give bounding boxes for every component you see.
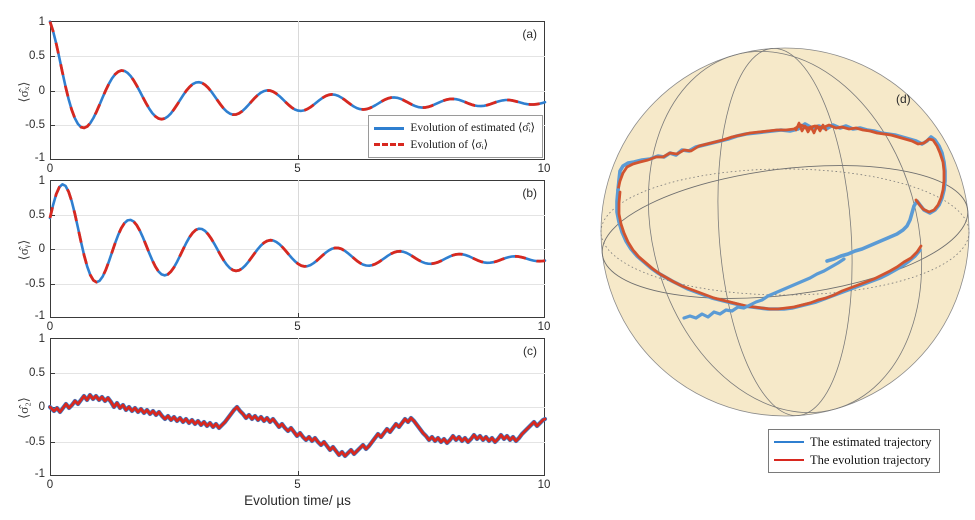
sphere-body	[601, 48, 969, 416]
ytick-label: 0	[39, 85, 45, 97]
legend-item-evolution: Evolution of ⟨σᵢ⟩	[374, 137, 535, 153]
legend-swatch-red	[774, 459, 804, 461]
legend-label-estimated-trajectory: The estimated trajectory	[810, 433, 931, 451]
bloch-sphere-svg	[600, 40, 975, 425]
legend-timeseries: Evolution of estimated ⟨σ̂ᵢ⟩ Evolution o…	[368, 115, 543, 158]
panel-sigma-y: 1 0.5 0 -0.5 -1 0 5 10 (b)	[50, 180, 545, 318]
xtick-label: 0	[47, 321, 53, 333]
ytick-label: 1	[39, 16, 45, 28]
panel-bloch-sphere: (d)	[600, 40, 975, 425]
legend-label-evolution-trajectory: The evolution trajectory	[810, 451, 931, 469]
legend-swatch-red-dashed	[374, 143, 404, 146]
trace-evolution-sigma-y	[50, 184, 545, 282]
xtick-label: 10	[538, 479, 551, 491]
legend-label-evolution: Evolution of ⟨σᵢ⟩	[410, 137, 488, 153]
ytick-label: 0	[39, 243, 45, 255]
legend-label-estimated: Evolution of estimated ⟨σ̂ᵢ⟩	[410, 120, 535, 136]
ylabel-sigma-y: ⟨σ̂ᵧ⟩	[16, 220, 32, 280]
ytick-label: -1	[35, 468, 45, 480]
ytick-label: -1	[35, 310, 45, 322]
ytick-label: 0.5	[29, 50, 45, 62]
xtick-label: 5	[294, 163, 300, 175]
ytick-label: 0.5	[29, 367, 45, 379]
panel-label-d: (d)	[896, 92, 911, 106]
trace-estimated-sigma-x	[50, 22, 545, 128]
panel-sigma-x: 1 0.5 0 -0.5 -1 0 5 10 (a) Evolution of …	[50, 21, 545, 160]
xtick-label: 5	[294, 479, 300, 491]
legend-bloch: The estimated trajectory The evolution t…	[768, 429, 940, 473]
ytick-label: 1	[39, 333, 45, 345]
xtick-label: 5	[294, 321, 300, 333]
ylabel-sigma-x: ⟨σ̂ₓ⟩	[16, 62, 32, 122]
xtick-label: 0	[47, 479, 53, 491]
ytick-label: -1	[35, 152, 45, 164]
legend-swatch-blue	[774, 441, 804, 443]
ytick-label: 1	[39, 175, 45, 187]
legend-item-evolution-trajectory: The evolution trajectory	[774, 451, 931, 469]
ytick-label: 0	[39, 401, 45, 413]
xlabel-evolution-time: Evolution time/ µs	[50, 493, 545, 508]
legend-item-estimated: Evolution of estimated ⟨σ̂ᵢ⟩	[374, 120, 535, 136]
xtick-label: 10	[538, 163, 551, 175]
xtick-label: 0	[47, 163, 53, 175]
legend-item-estimated-trajectory: The estimated trajectory	[774, 433, 931, 451]
trace-estimated-sigma-y	[50, 184, 545, 282]
trace-layer-c	[50, 338, 545, 476]
panel-sigma-z: 1 0.5 0 -0.5 -1 0 5 10 (c)	[50, 338, 545, 476]
trace-estimated-sigma-z	[50, 395, 545, 456]
figure-root: 1 0.5 0 -0.5 -1 0 5 10 (a) Evolution of …	[0, 0, 975, 520]
ylabel-sigma-z: ⟨σ̂₂⟩	[16, 378, 32, 438]
trace-layer-b	[50, 180, 545, 318]
trace-evolution-sigma-x	[50, 22, 545, 128]
ytick-label: 0.5	[29, 209, 45, 221]
legend-swatch-blue-solid	[374, 127, 404, 130]
xtick-label: 10	[538, 321, 551, 333]
